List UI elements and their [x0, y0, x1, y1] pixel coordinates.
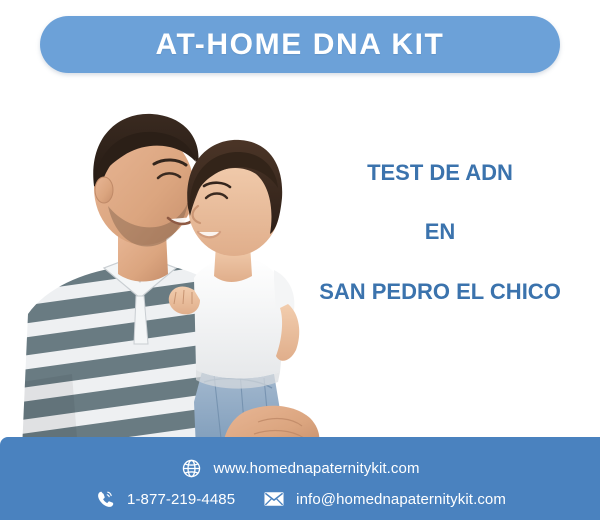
email-label: info@homednapaternitykit.com	[296, 492, 506, 507]
footer-row-website: www.homednapaternitykit.com	[0, 457, 600, 479]
email-contact[interactable]: info@homednapaternitykit.com	[263, 488, 506, 510]
headline-line-2: EN	[290, 219, 590, 244]
phone-contact[interactable]: 1-877-219-4485	[94, 488, 235, 510]
headline-line-1: TEST DE ADN	[290, 160, 590, 185]
footer-row-phone-email: 1-877-219-4485 info@homednapaternitykit.…	[0, 488, 600, 510]
header-badge-label: AT-HOME DNA KIT	[156, 30, 445, 60]
website-label: www.homednapaternitykit.com	[213, 461, 419, 476]
headline-line-3: SAN PEDRO EL CHICO	[290, 279, 590, 304]
family-photo-illustration	[8, 82, 338, 450]
header-badge: AT-HOME DNA KIT	[40, 16, 560, 73]
globe-icon	[180, 457, 202, 479]
phone-label: 1-877-219-4485	[127, 492, 235, 507]
family-photo	[8, 82, 338, 450]
headline-block: TEST DE ADN EN SAN PEDRO EL CHICO	[290, 160, 590, 304]
envelope-icon	[263, 488, 285, 510]
poster-canvas: AT-HOME DNA KIT	[0, 0, 600, 520]
footer-contact-bar: www.homednapaternitykit.com 1-877-219-44…	[0, 437, 600, 520]
website-contact[interactable]: www.homednapaternitykit.com	[180, 457, 419, 479]
phone-icon	[94, 488, 116, 510]
